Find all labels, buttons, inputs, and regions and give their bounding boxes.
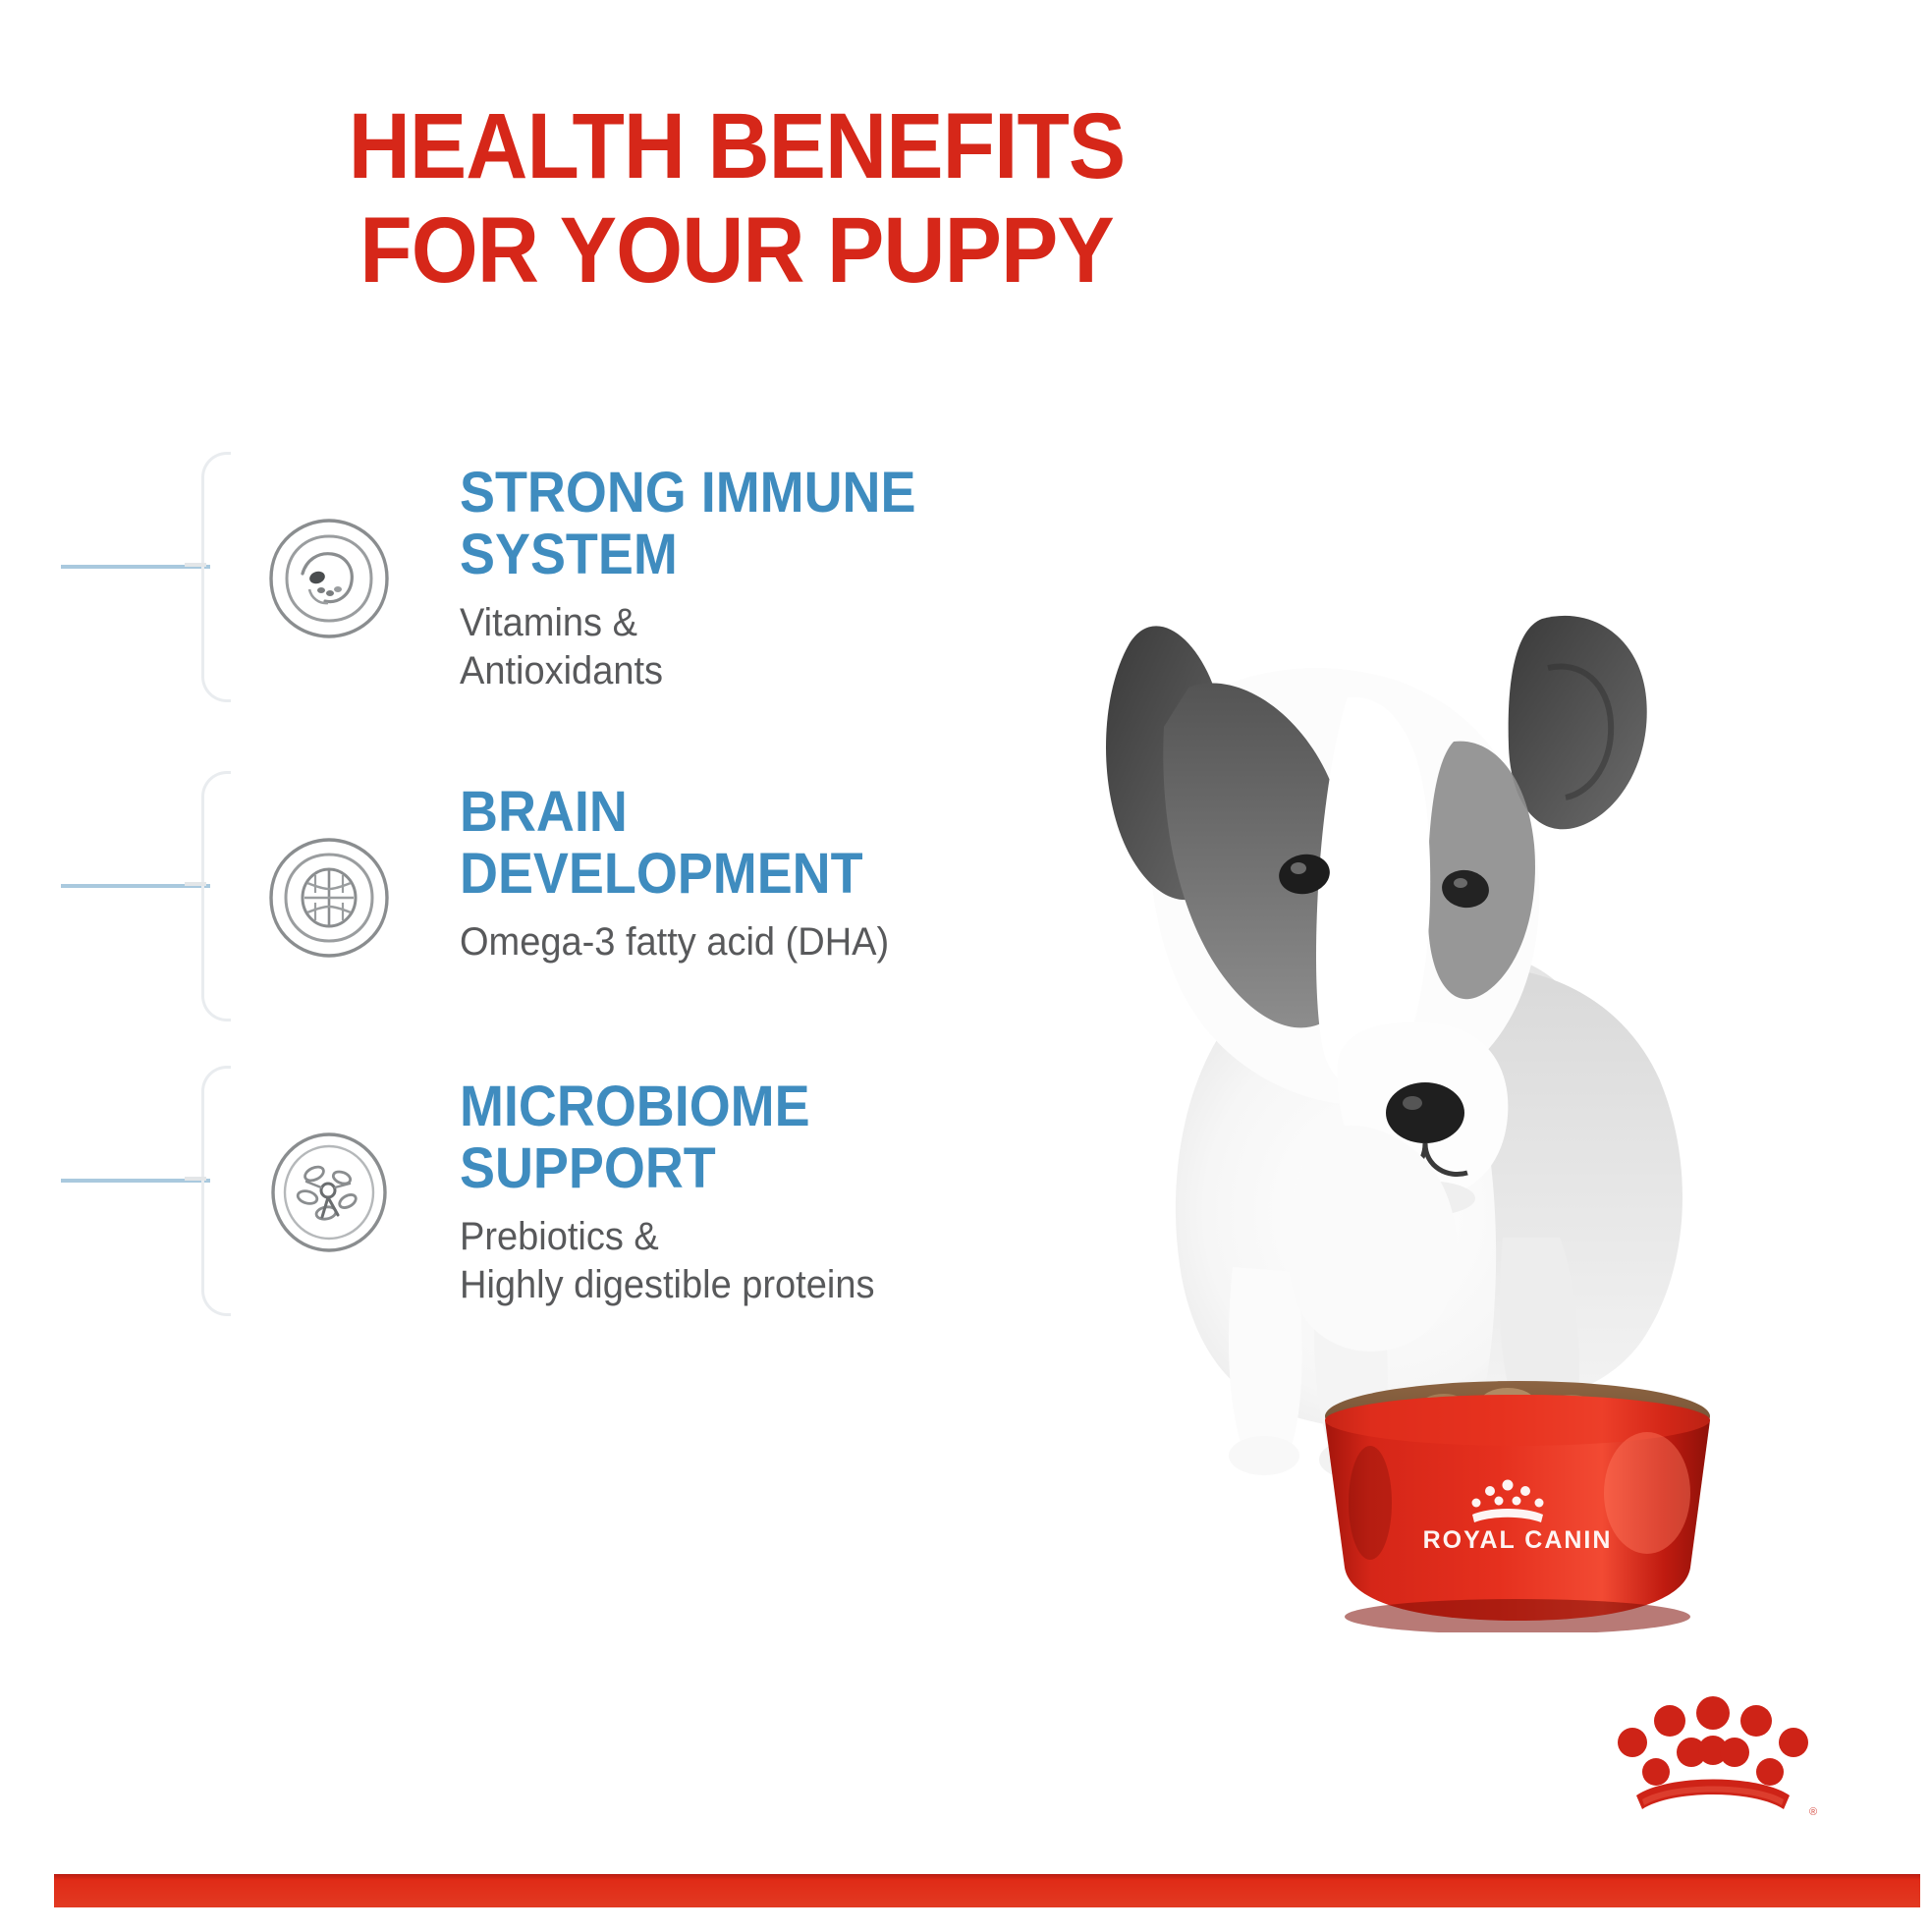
microbiome-gut-bacteria-icon	[263, 1127, 395, 1258]
benefit-item-immune: STRONG IMMUNE SYSTEM Vitamins & Antioxid…	[0, 452, 1021, 717]
benefit-subtitle: Vitamins & Antioxidants	[460, 599, 982, 695]
svg-text:®: ®	[1809, 1806, 1817, 1818]
benefit-heading: MICROBIOME SUPPORT	[460, 1076, 971, 1199]
bowl-brand-text: ROYAL CANIN	[1423, 1526, 1613, 1554]
bracket-decoration	[201, 452, 231, 702]
bracket-nub	[185, 563, 206, 567]
benefits-list: STRONG IMMUNE SYSTEM Vitamins & Antioxid…	[0, 422, 1021, 1365]
benefit-text-immune: STRONG IMMUNE SYSTEM Vitamins & Antioxid…	[460, 462, 1010, 695]
royal-canin-crown-logo: ®	[1599, 1678, 1827, 1835]
footer-red-bar	[54, 1874, 1920, 1907]
brain-icon	[263, 832, 395, 964]
bracket-nub	[185, 882, 206, 886]
benefit-subtitle: Omega-3 fatty acid (DHA)	[460, 918, 982, 966]
benefit-item-brain: BRAIN DEVELOPMENT Omega-3 fatty acid (DH…	[0, 771, 1021, 1036]
benefit-heading: STRONG IMMUNE SYSTEM	[460, 462, 971, 585]
page-title: HEALTH BENEFITS FOR YOUR PUPPY	[0, 94, 1473, 304]
food-bowl: ROYAL CANIN	[1262, 1375, 1773, 1632]
health-benefits-infographic: HEALTH BENEFITS FOR YOUR PUPPY	[0, 0, 1931, 1932]
benefit-item-microbiome: MICROBIOME SUPPORT Prebiotics & Highly d…	[0, 1066, 1021, 1331]
benefit-subtitle: Prebiotics & Highly digestible proteins	[460, 1213, 982, 1309]
benefit-heading: BRAIN DEVELOPMENT	[460, 781, 971, 905]
immune-shield-paw-icon	[263, 513, 395, 644]
page-title-line-2: FOR YOUR PUPPY	[59, 198, 1414, 303]
benefit-text-brain: BRAIN DEVELOPMENT Omega-3 fatty acid (DH…	[460, 781, 1010, 966]
bracket-nub	[185, 1177, 206, 1181]
page-title-line-1: HEALTH BENEFITS	[59, 94, 1414, 198]
bracket-decoration	[201, 1066, 231, 1316]
bracket-decoration	[201, 771, 231, 1021]
benefit-text-microbiome: MICROBIOME SUPPORT Prebiotics & Highly d…	[460, 1076, 1010, 1309]
